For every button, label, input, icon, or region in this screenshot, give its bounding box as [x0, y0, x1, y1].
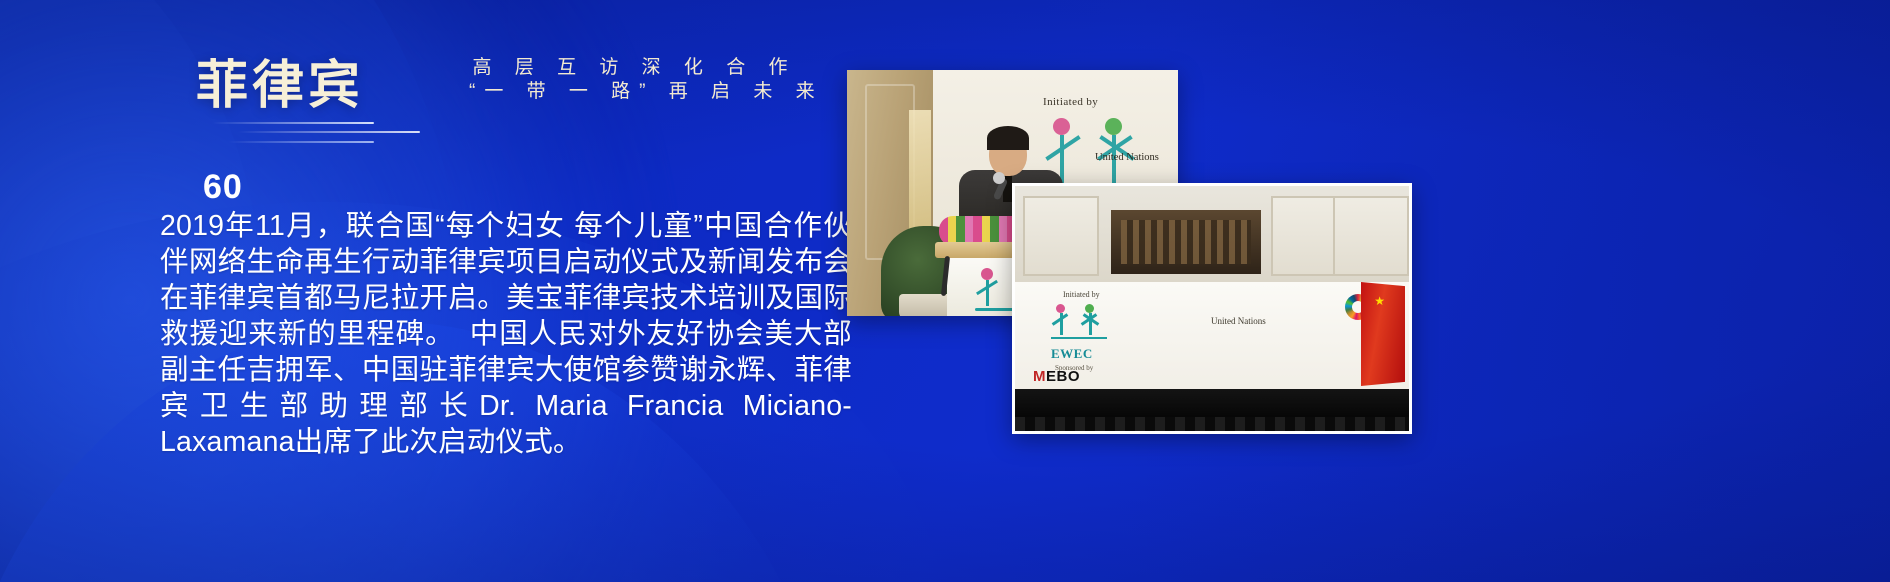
- mebo-logo-initial: M: [1033, 368, 1046, 385]
- photo-door-light: [909, 110, 931, 230]
- country-title: 菲律宾: [196, 60, 364, 112]
- backdrop-united-nations-text: United Nations: [1095, 152, 1159, 163]
- group-backdrop-initiated-text: Initiated by: [1063, 290, 1100, 299]
- decorative-rule-3: [228, 141, 374, 143]
- stage-skirt: [1015, 417, 1409, 431]
- slide-number: 60: [203, 168, 243, 207]
- mebo-logo-rest: EBO: [1046, 368, 1080, 385]
- wall-wooden-door: [1111, 210, 1261, 274]
- presentation-slide: 菲律宾 高 层 互 访 深 化 合 作 “一 带 一 路” 再 启 未 来 60…: [0, 0, 1890, 582]
- flag-star-icon: ★: [1374, 294, 1385, 308]
- title-underline-decoration: [196, 122, 436, 148]
- backdrop-initiated-text: Initiated by: [1043, 96, 1098, 108]
- microphone-head-icon: [993, 172, 1005, 184]
- group-icon-dot-green: [1085, 304, 1094, 313]
- speaker-hair: [987, 126, 1029, 150]
- group-icon-dot-pink: [1056, 304, 1065, 313]
- headline-line-2: “一 带 一 路” 再 启 未 来: [460, 80, 800, 104]
- decorative-rule-2: [238, 131, 420, 133]
- decorative-rule-1: [212, 122, 374, 124]
- group-ewec-family-icon: [1051, 304, 1113, 344]
- group-backdrop-united-nations-text: United Nations: [1211, 316, 1266, 326]
- wall-panel-3: [1333, 196, 1409, 276]
- wall-panel-1: [1023, 196, 1099, 276]
- body-paragraph: 2019年11月，联合国“每个妇女 每个儿童”中国合作伙伴网络生命再生行动菲律宾…: [160, 208, 852, 460]
- ewec-icon-dot-green: [1105, 118, 1122, 135]
- stage-platform: [1015, 389, 1409, 431]
- group-ceremony-photo: Initiated by EWEC Sponsored by United Na…: [1012, 183, 1412, 434]
- headline-line-1: 高 层 互 访 深 化 合 作: [460, 56, 800, 80]
- headline-block: 高 层 互 访 深 化 合 作 “一 带 一 路” 再 启 未 来: [460, 56, 800, 105]
- group-icon-baseline: [1051, 337, 1107, 339]
- mebo-sponsor-logo: MEBO: [1033, 368, 1080, 385]
- ewec-icon-dot-pink: [1053, 118, 1070, 135]
- group-backdrop-ewec-text: EWEC: [1051, 346, 1093, 362]
- podium-icon-dot-pink: [981, 268, 993, 280]
